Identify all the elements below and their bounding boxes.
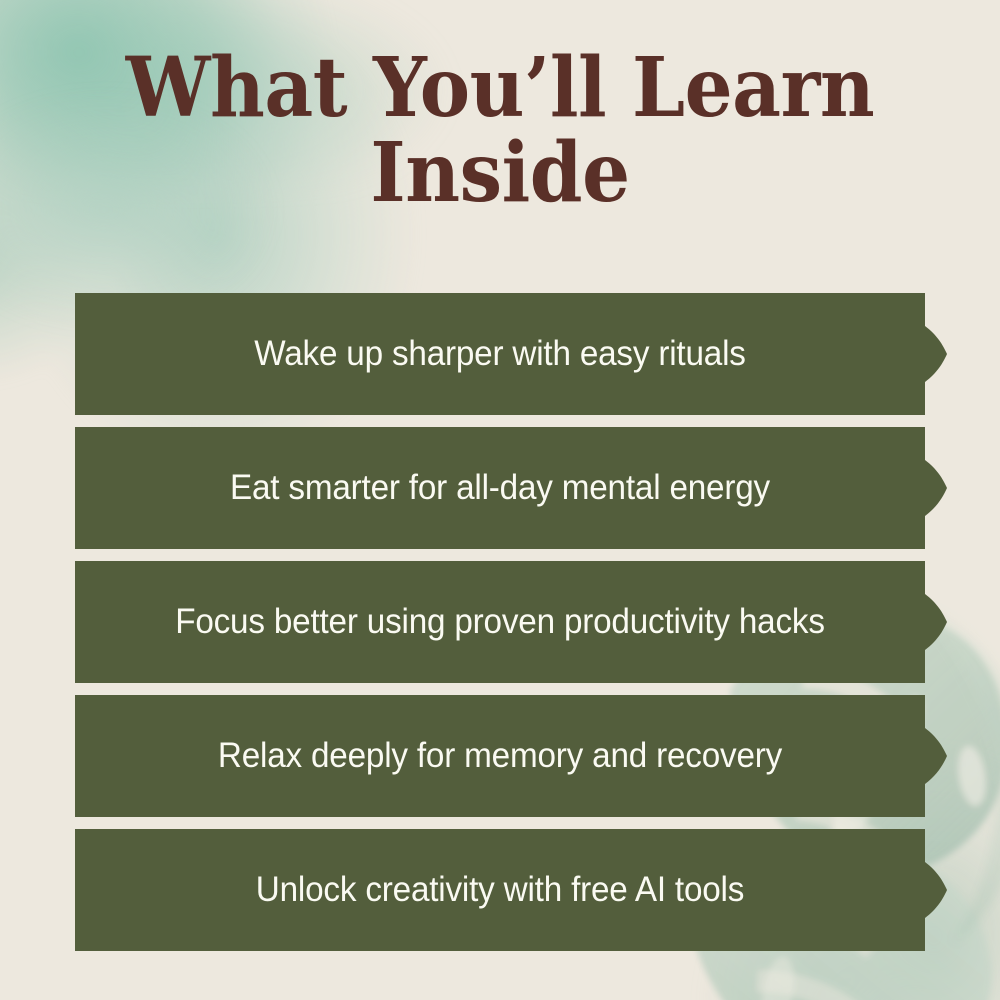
benefit-banner-5-label: Unlock creativity with free AI tools bbox=[96, 829, 904, 951]
benefit-banner-2[interactable]: Eat smarter for all-day mental energy bbox=[0, 427, 1000, 549]
benefit-banner-4[interactable]: Relax deeply for memory and recovery bbox=[0, 695, 1000, 817]
benefit-banner-5[interactable]: Unlock creativity with free AI tools bbox=[0, 829, 1000, 951]
page-title: What You’ll Learn Inside bbox=[0, 48, 1000, 214]
benefit-banner-1[interactable]: Wake up sharper with easy rituals bbox=[0, 293, 1000, 415]
page-title-line-1: What You’ll Learn bbox=[40, 48, 960, 129]
poster-canvas: What You’ll Learn Inside Wake up sharper… bbox=[0, 0, 1000, 1000]
benefit-banner-2-label: Eat smarter for all-day mental energy bbox=[96, 427, 904, 549]
benefit-banner-1-label: Wake up sharper with easy rituals bbox=[96, 293, 904, 415]
benefit-banner-4-label: Relax deeply for memory and recovery bbox=[96, 695, 904, 817]
benefit-banner-3[interactable]: Focus better using proven productivity h… bbox=[0, 561, 1000, 683]
benefit-banner-3-label: Focus better using proven productivity h… bbox=[96, 561, 904, 683]
benefit-banner-list: Wake up sharper with easy rituals Eat sm… bbox=[0, 293, 1000, 963]
page-title-line-2: Inside bbox=[40, 133, 960, 214]
